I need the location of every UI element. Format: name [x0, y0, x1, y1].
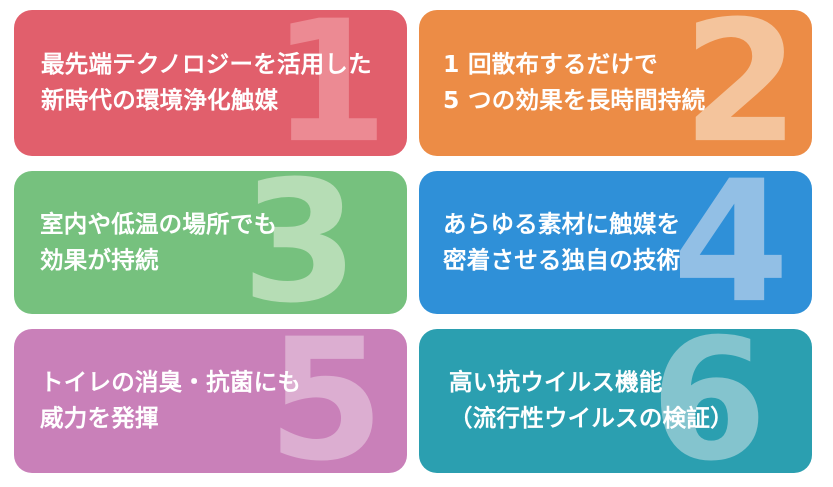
card-text-4: あらゆる素材に触媒を 密着させる独自の技術	[419, 207, 686, 278]
card-text-3: 室内や低温の場所でも 効果が持続	[14, 207, 283, 278]
feature-card-3[interactable]: 3 室内や低温の場所でも 効果が持続	[14, 171, 407, 314]
feature-card-4[interactable]: 4 あらゆる素材に触媒を 密着させる独自の技術	[419, 171, 812, 314]
card-text-6: 高い抗ウイルス機能 （流行性ウイルスの検証）	[419, 365, 740, 436]
card-text-1: 最先端テクノロジーを活用した 新時代の環境浄化触媒	[14, 47, 378, 118]
feature-card-2[interactable]: 2 1 回散布するだけで 5 つの効果を長時間持続	[419, 10, 812, 156]
feature-card-grid: 1 最先端テクノロジーを活用した 新時代の環境浄化触媒 2 1 回散布するだけで…	[0, 0, 833, 487]
card-text-2: 1 回散布するだけで 5 つの効果を長時間持続	[419, 47, 711, 118]
feature-card-6[interactable]: 6 高い抗ウイルス機能 （流行性ウイルスの検証）	[419, 329, 812, 473]
card-number-badge-4: 4	[672, 174, 786, 312]
feature-card-1[interactable]: 1 最先端テクノロジーを活用した 新時代の環境浄化触媒	[14, 10, 407, 156]
card-text-5: トイレの消臭・抗菌にも 威力を発揮	[14, 365, 307, 436]
feature-card-5[interactable]: 5 トイレの消臭・抗菌にも 威力を発揮	[14, 329, 407, 473]
